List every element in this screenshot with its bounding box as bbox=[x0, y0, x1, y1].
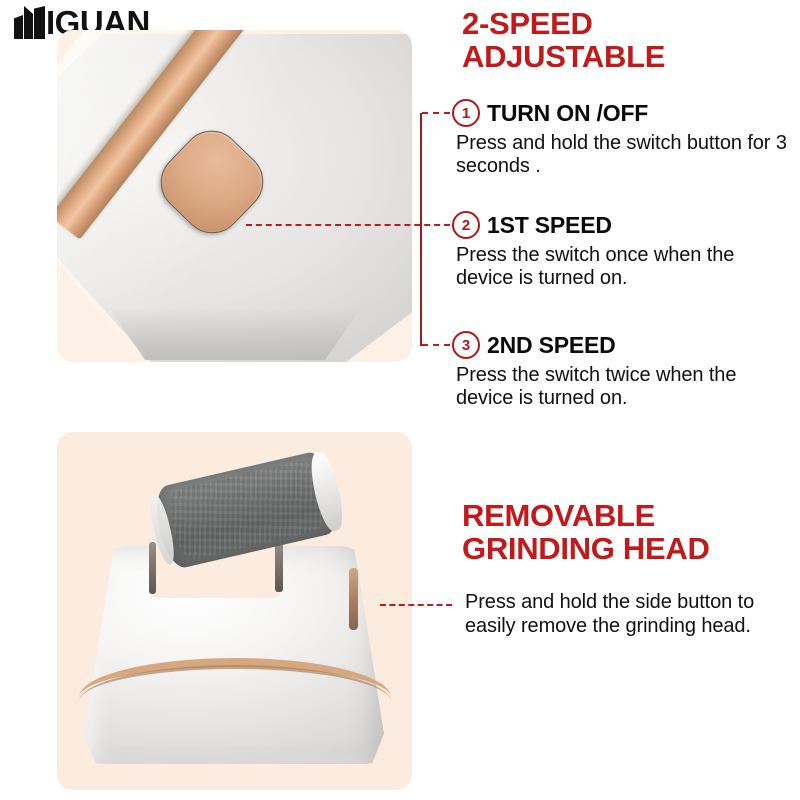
section-title-2speed: 2-SPEED ADJUSTABLE bbox=[462, 8, 792, 74]
callout-dash-3 bbox=[422, 344, 450, 346]
infographic-page: IGUAN 2-SPEED ADJUSTABLE bbox=[0, 0, 800, 800]
feature-body-2: Press the switch once when the device is… bbox=[456, 244, 792, 290]
callout-bracket-line bbox=[420, 113, 422, 346]
removable-title-line-1: REMOVABLE bbox=[462, 500, 798, 533]
product-photo-switch bbox=[57, 30, 412, 362]
step-number-badge-2: 2 bbox=[452, 211, 480, 239]
feature-body-1: Press and hold the switch button for 3 s… bbox=[456, 132, 792, 178]
gold-stripe-bottom-inner bbox=[79, 665, 391, 739]
feature-title-3: 2ND SPEED bbox=[487, 334, 616, 357]
step-number-badge-3: 3 bbox=[452, 331, 480, 359]
title-line-1: 2-SPEED bbox=[462, 8, 792, 41]
section-title-removable-head: REMOVABLE GRINDING HEAD bbox=[462, 500, 798, 566]
feature-title-2: 1ST SPEED bbox=[487, 214, 612, 237]
callout-dash-2 bbox=[246, 224, 450, 226]
removable-head-body: Press and hold the side button to easily… bbox=[465, 590, 795, 639]
side-release-button bbox=[349, 568, 358, 630]
feature-body-3: Press the switch twice when the device i… bbox=[456, 364, 792, 410]
head-slot-right bbox=[275, 540, 283, 592]
title-line-2: ADJUSTABLE bbox=[462, 41, 792, 74]
callout-dash-grinding-head bbox=[380, 604, 452, 606]
feature-item-1st-speed: 2 1ST SPEED Press the switch once when t… bbox=[452, 211, 792, 290]
callout-dash-1 bbox=[422, 112, 450, 114]
step-number-badge-1: 1 bbox=[452, 99, 480, 127]
head-slot-left bbox=[149, 542, 156, 594]
product-photo-grinding-head bbox=[57, 432, 412, 790]
feature-title-1: TURN ON /OFF bbox=[487, 102, 648, 125]
removable-title-line-2: GRINDING HEAD bbox=[462, 533, 798, 566]
logo-m-mark bbox=[14, 6, 45, 39]
feature-item-turn-on-off: 1 TURN ON /OFF Press and hold the switch… bbox=[452, 99, 792, 178]
feature-item-2nd-speed: 3 2ND SPEED Press the switch twice when … bbox=[452, 331, 792, 410]
